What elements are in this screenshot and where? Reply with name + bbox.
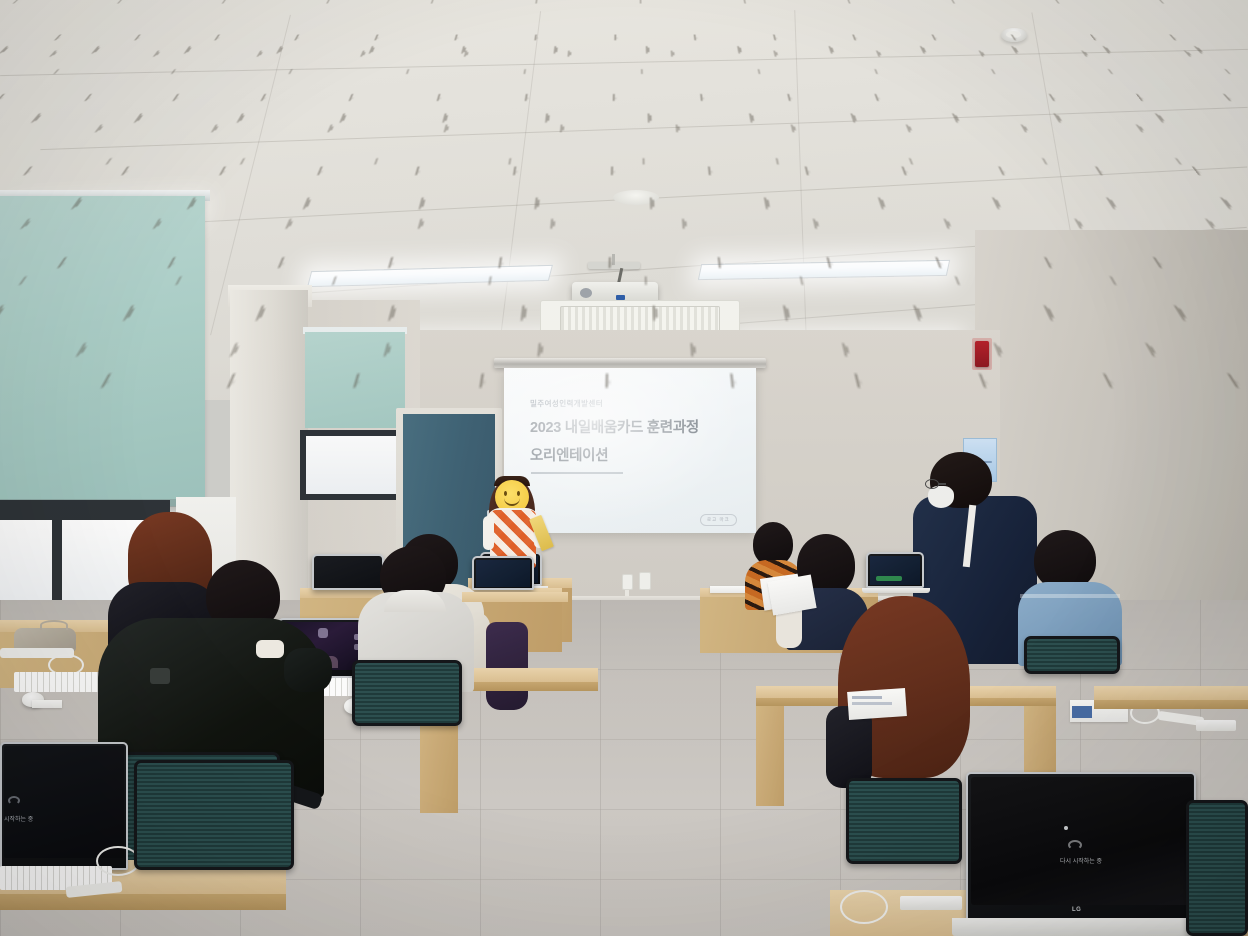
desk-r4-edge — [1094, 700, 1248, 709]
glasses-icon — [925, 479, 939, 489]
denim-seam — [1020, 594, 1120, 598]
keyboard-l2[interactable] — [14, 672, 100, 692]
hoodie-logo — [150, 668, 170, 684]
wall-outlet-2[interactable] — [639, 572, 651, 590]
desk-aisle-top — [462, 592, 568, 602]
desk-r2-leg — [756, 706, 784, 806]
handbag-strap — [40, 620, 68, 630]
ceiling-speaker-icon — [613, 190, 659, 205]
smoke-detector-cap — [1006, 31, 1021, 38]
staff-observer-mask — [928, 486, 954, 508]
laptop-r3-screen — [971, 777, 1193, 905]
smoke-detector-icon — [1001, 28, 1027, 42]
chair-l4[interactable] — [134, 760, 294, 870]
laptop-cursor — [1064, 826, 1068, 830]
laptop-l4-screen — [4, 746, 124, 858]
projector-lens — [580, 288, 592, 298]
desk-r4-top — [1094, 686, 1248, 700]
hoodie-hood — [384, 590, 446, 612]
laptop-l3-icon — [318, 628, 328, 638]
fire-alarm-icon — [975, 341, 989, 367]
projection-screen-housing[interactable] — [494, 358, 766, 368]
glasses-bridge — [938, 483, 946, 485]
roller-blind-far[interactable] — [305, 332, 405, 428]
emoji-eye-right — [517, 491, 520, 496]
handout-graphic — [1072, 706, 1092, 718]
emoji-eye-left — [504, 491, 507, 496]
laptop-l4-status: 시작하는 중 — [4, 814, 33, 823]
laptop-r1[interactable] — [866, 552, 924, 588]
laptop-r3-base — [952, 918, 1202, 936]
loading-spinner-icon — [8, 796, 20, 805]
face-mask — [256, 640, 284, 658]
roller-blind-left[interactable] — [0, 196, 205, 506]
projector-mount — [612, 254, 615, 265]
classroom-photo: 밀주여성인력개발센터 2023 내일배움카드 훈련과정 오리엔테이션 로고 마크 — [0, 0, 1248, 936]
chair-denim[interactable] — [1024, 636, 1120, 674]
cable-bundle-r3 — [840, 890, 888, 924]
window-glass-far — [306, 436, 402, 494]
presenter-sleeve-left — [483, 516, 494, 550]
handout-text-line — [852, 696, 882, 699]
loading-spinner-icon — [1068, 840, 1082, 850]
bag-purple — [486, 622, 528, 710]
laptop-r3-lg[interactable]: 다시 시작하는 중 LG — [966, 772, 1196, 920]
handout-text-line — [852, 702, 892, 705]
laptop-l1b-screen — [476, 560, 530, 587]
paper-l2 — [32, 700, 62, 708]
handout-r1 — [710, 586, 746, 593]
laptop-l1-screen — [316, 558, 380, 587]
student-black-hoodie-arm — [284, 648, 332, 692]
laptop-l1b[interactable] — [472, 556, 534, 590]
chair-auburn[interactable] — [846, 778, 962, 864]
desk-l4-edge — [0, 894, 286, 910]
chair-grey-hoodie[interactable] — [352, 660, 462, 726]
power-strip-r3[interactable] — [900, 896, 962, 910]
lg-logo: LG — [1072, 907, 1081, 913]
laptop-r1-base — [862, 588, 930, 593]
emoji-mouth — [504, 498, 520, 506]
wall-outlet-1[interactable] — [622, 574, 633, 590]
laptop-l1[interactable] — [312, 554, 384, 590]
screen-glow — [504, 368, 756, 533]
laptop-status-text: 다시 시작하는 중 — [1060, 856, 1102, 865]
power-strip-r2[interactable] — [1196, 720, 1236, 731]
student-denim-head — [1034, 530, 1096, 590]
chair-r3[interactable] — [1186, 800, 1248, 936]
laptop-r1-button — [876, 576, 902, 581]
